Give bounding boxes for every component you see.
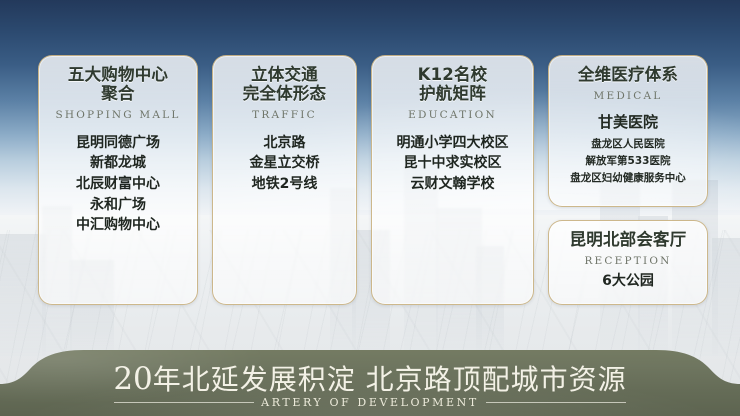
card-lead-item: 甘美医院 xyxy=(555,111,701,132)
card-title-cn: 昆明北部会客厅 xyxy=(555,231,701,250)
card-title-cn: K12名校 护航矩阵 xyxy=(378,66,527,104)
banner-headline-text: 年北延发展积淀 北京路顶配城市资源 xyxy=(153,363,627,396)
card-item-list: 北京路 金星立交桥 地铁2号线 xyxy=(219,133,350,195)
banner-subline-row: ARTERY OF DEVELOPMENT xyxy=(0,396,740,409)
list-item: 6大公园 xyxy=(555,271,701,292)
list-item: 中汇购物中心 xyxy=(45,215,191,236)
list-item: 解放军第533医院 xyxy=(555,153,701,170)
card-subtitle-en: MEDICAL xyxy=(555,90,701,102)
card-shopping-mall[interactable]: 五大购物中心 聚合 SHOPPING MALL 昆明同德广场 新都龙城 北辰财富… xyxy=(38,55,198,305)
list-item: 北京路 xyxy=(219,133,350,154)
list-item: 金星立交桥 xyxy=(219,153,350,174)
card-title-cn: 五大购物中心 聚合 xyxy=(45,66,191,104)
card-subtitle-en: EDUCATION xyxy=(378,109,527,121)
list-item: 盘龙区人民医院 xyxy=(555,136,701,153)
list-item: 地铁2号线 xyxy=(219,174,350,195)
list-item: 盘龙区妇幼健康服务中心 xyxy=(555,170,701,187)
banner-rule-left xyxy=(114,402,254,403)
card-item-list: 6大公园 xyxy=(555,271,701,292)
card-subtitle-en: SHOPPING MALL xyxy=(45,109,191,121)
card-reception[interactable]: 昆明北部会客厅 RECEPTION 6大公园 xyxy=(548,220,708,305)
card-education[interactable]: K12名校 护航矩阵 EDUCATION 明通小学四大校区 昆十中求实校区 云财… xyxy=(371,55,534,305)
card-medical[interactable]: 全维医疗体系 MEDICAL 甘美医院 盘龙区人民医院 解放军第533医院 盘龙… xyxy=(548,55,708,207)
card-item-list: 昆明同德广场 新都龙城 北辰财富中心 永和广场 中汇购物中心 xyxy=(45,133,191,237)
list-item: 昆十中求实校区 xyxy=(378,153,527,174)
card-subtitle-en: TRAFFIC xyxy=(219,109,350,121)
banner-subline-en: ARTERY OF DEVELOPMENT xyxy=(261,396,479,409)
list-item: 永和广场 xyxy=(45,195,191,216)
card-item-list: 盘龙区人民医院 解放军第533医院 盘龙区妇幼健康服务中心 xyxy=(555,136,701,187)
list-item: 云财文翰学校 xyxy=(378,174,527,195)
list-item: 北辰财富中心 xyxy=(45,174,191,195)
card-subtitle-en: RECEPTION xyxy=(555,255,701,267)
list-item: 昆明同德广场 xyxy=(45,133,191,154)
card-traffic[interactable]: 立体交通 完全体形态 TRAFFIC 北京路 金星立交桥 地铁2号线 xyxy=(212,55,357,305)
feature-cards: 五大购物中心 聚合 SHOPPING MALL 昆明同德广场 新都龙城 北辰财富… xyxy=(0,0,740,330)
bottom-banner: 20年北延发展积淀 北京路顶配城市资源 ARTERY OF DEVELOPMEN… xyxy=(0,344,740,416)
banner-headline-number: 20 xyxy=(113,361,152,397)
list-item: 明通小学四大校区 xyxy=(378,133,527,154)
list-item: 新都龙城 xyxy=(45,153,191,174)
banner-rule-right xyxy=(486,402,626,403)
card-item-list: 明通小学四大校区 昆十中求实校区 云财文翰学校 xyxy=(378,133,527,195)
banner-headline: 20年北延发展积淀 北京路顶配城市资源 xyxy=(0,358,740,398)
card-title-cn: 立体交通 完全体形态 xyxy=(219,66,350,104)
card-title-cn: 全维医疗体系 xyxy=(555,66,701,85)
